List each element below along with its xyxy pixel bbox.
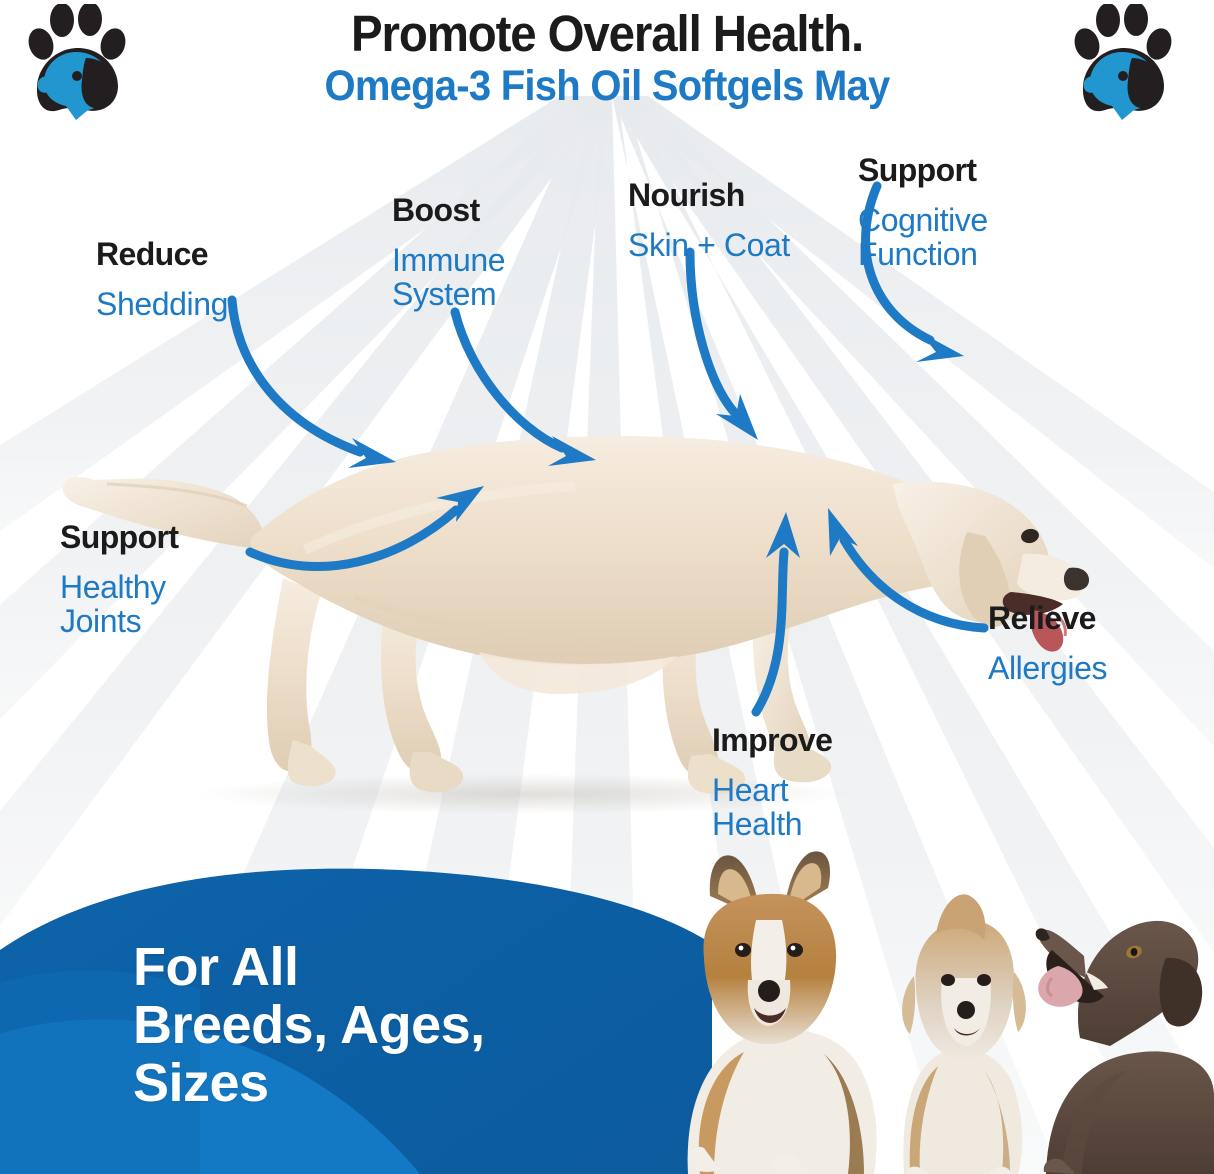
callout-title: Support	[60, 521, 178, 554]
brown-pointer	[1036, 921, 1214, 1174]
callout-reduce-shedding: Reduce Shedding	[96, 222, 228, 338]
shetland-sheepdog	[688, 851, 877, 1174]
callout-title: Relieve	[988, 602, 1107, 635]
callout-title: Boost	[392, 194, 505, 227]
callout-detail: Cognitive Function	[858, 203, 988, 271]
callout-boost-immune: Boost Immune System	[392, 178, 505, 328]
callout-improve-heart: Improve Heart Health	[712, 708, 832, 858]
callout-detail: Immune System	[392, 243, 505, 311]
callout-title: Nourish	[628, 179, 790, 212]
callout-relieve-allergies: Relieve Allergies	[988, 586, 1107, 702]
banner-text: For All Breeds, Ages, Sizes	[133, 938, 485, 1112]
callout-title: Improve	[712, 724, 832, 757]
callout-detail: Healthy Joints	[60, 570, 178, 638]
callout-healthy-joints: Support Healthy Joints	[60, 505, 178, 655]
hero-dog-photo	[55, 300, 1095, 820]
paw-dog-logo-right-icon	[1072, 4, 1176, 120]
bottom-dogs-photo	[648, 838, 1214, 1174]
headline-secondary: Omega-3 Fish Oil Softgels May	[42, 62, 1171, 110]
callout-cognitive-function: Support Cognitive Function	[858, 138, 988, 288]
callout-detail: Allergies	[988, 651, 1107, 685]
callout-detail: Skin + Coat	[628, 228, 790, 262]
callout-title: Support	[858, 154, 988, 187]
callout-detail: Shedding	[96, 287, 228, 321]
headline-primary: Promote Overall Health.	[42, 6, 1171, 62]
callout-nourish-skin-coat: Nourish Skin + Coat	[628, 163, 790, 279]
callout-title: Reduce	[96, 238, 228, 271]
header: Promote Overall Health. Omega-3 Fish Oil…	[0, 0, 1214, 122]
callout-detail: Heart Health	[712, 773, 832, 841]
product-infographic: .ar { fill:none; stroke:#1e7ac4; stroke-…	[0, 0, 1214, 1174]
small-terrier-mix	[902, 894, 1026, 1174]
